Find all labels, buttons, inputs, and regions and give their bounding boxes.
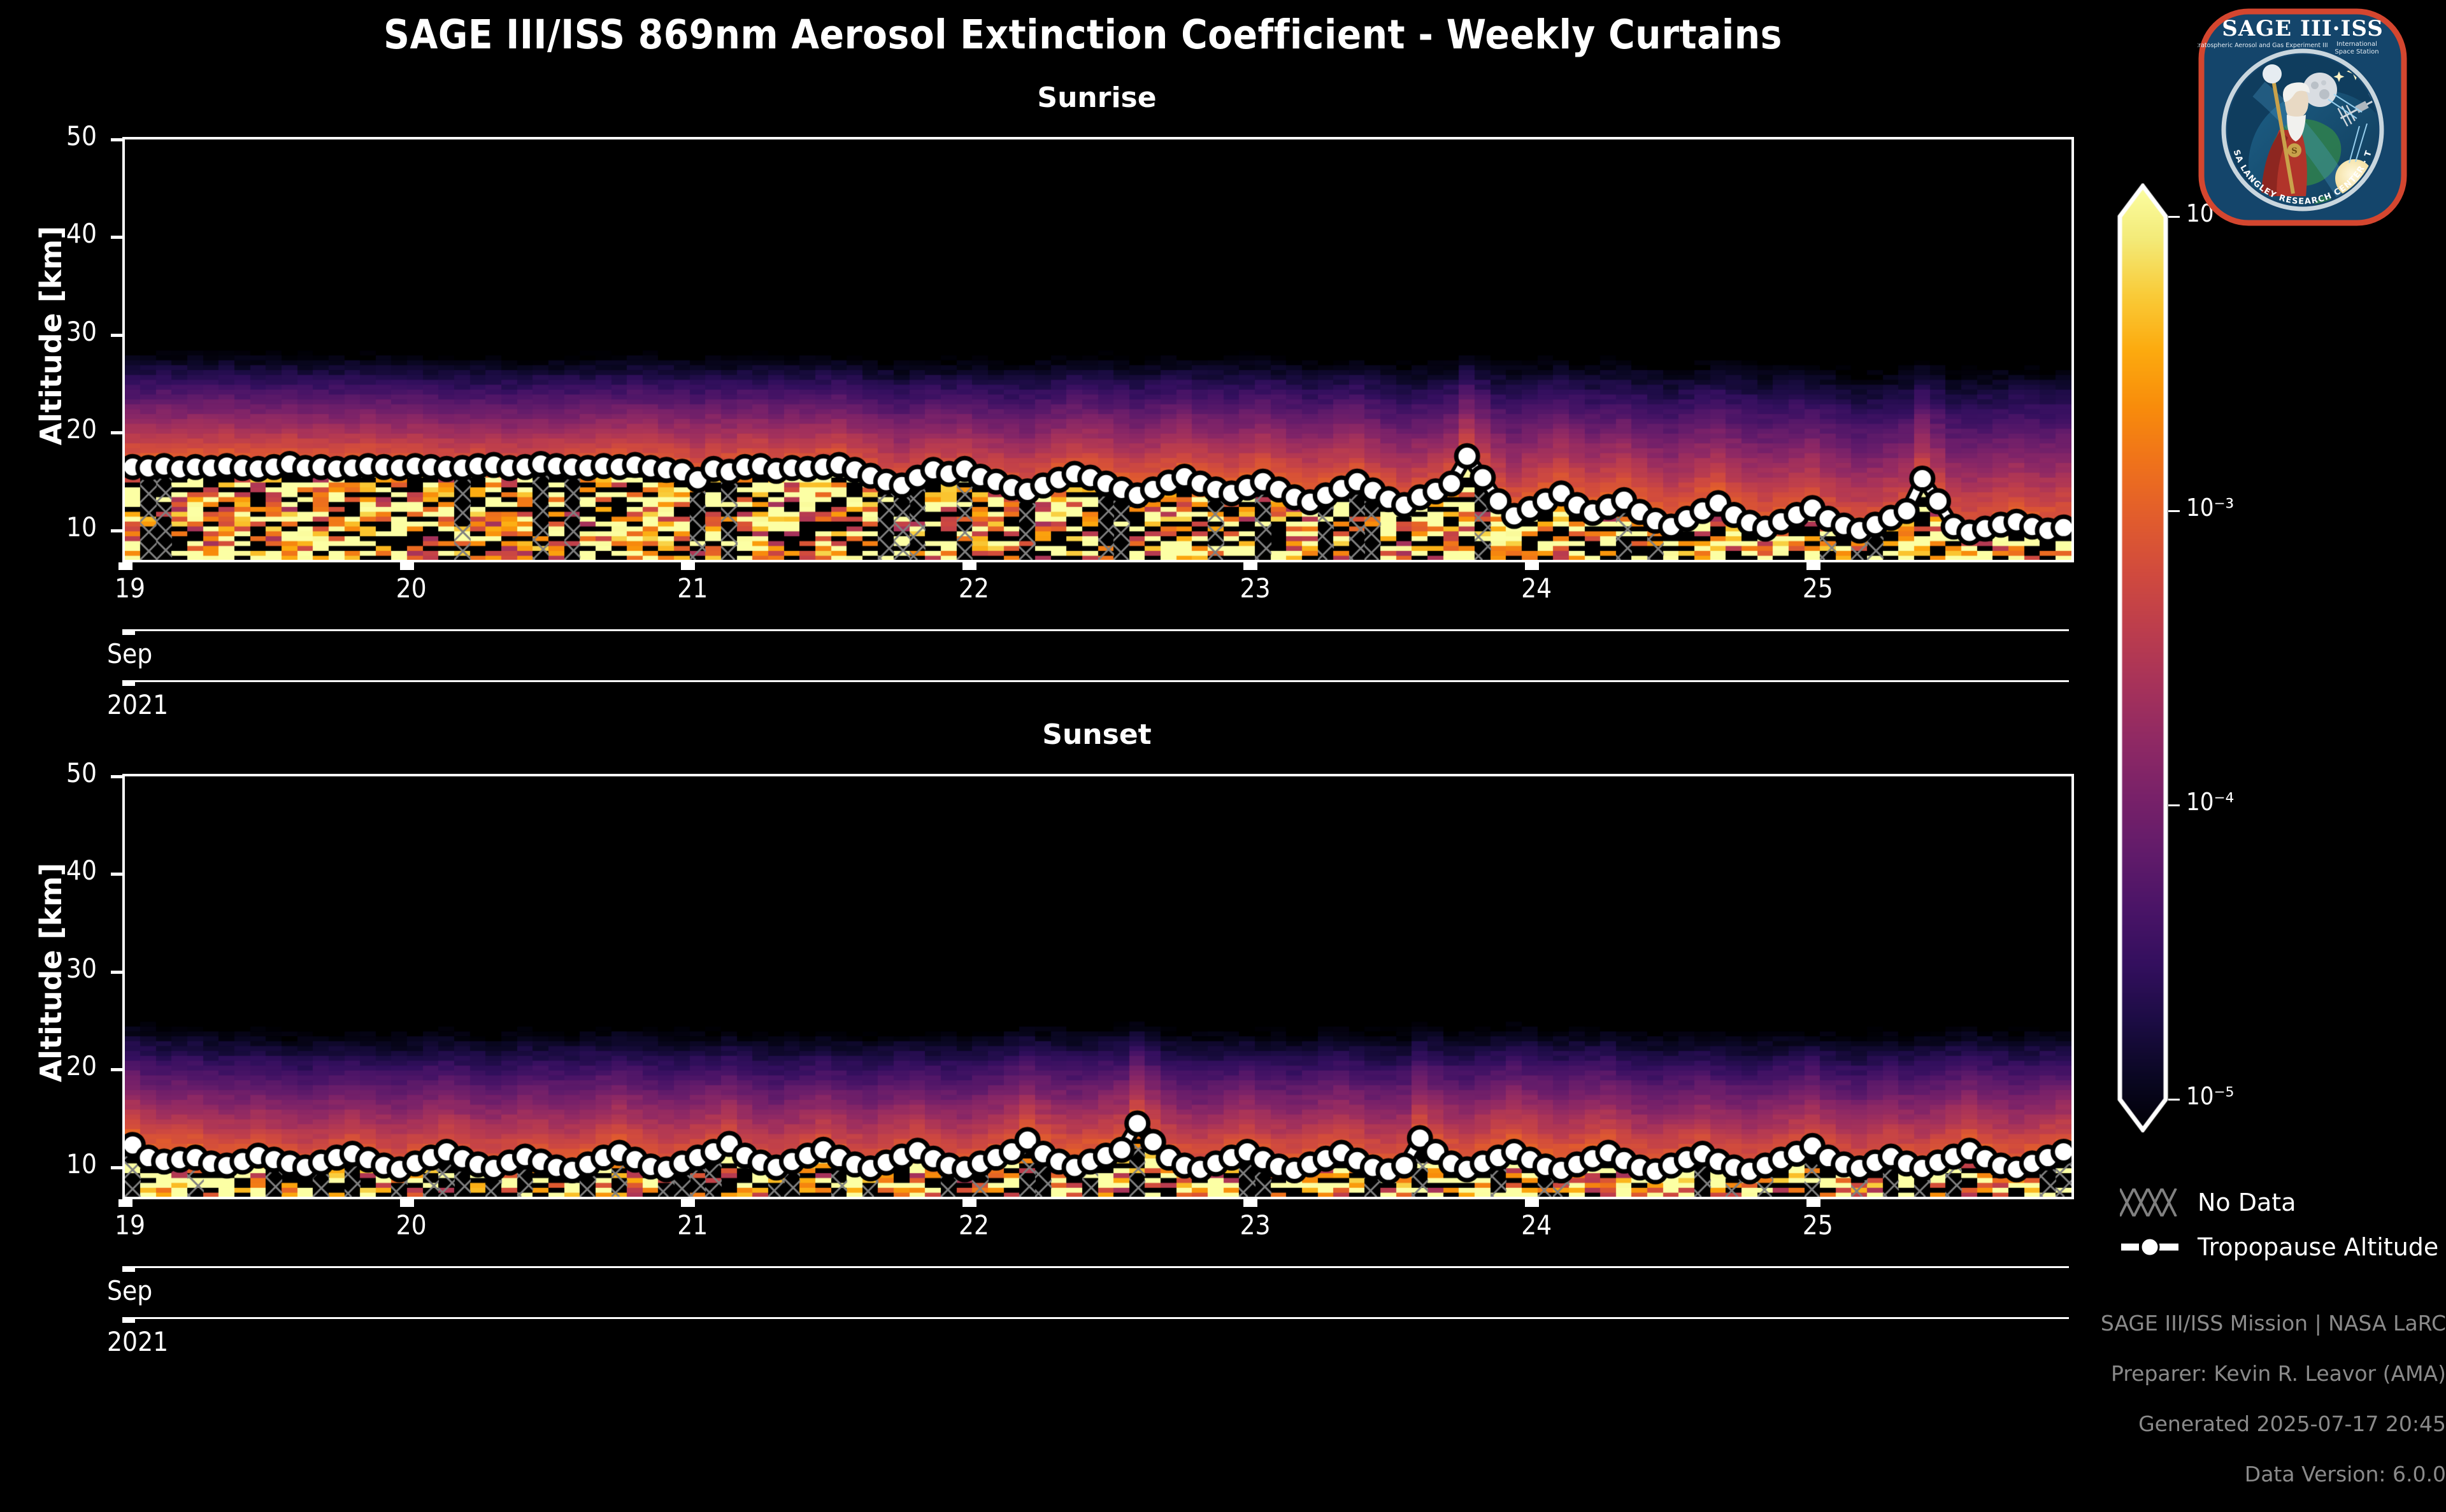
panel-title-sunset: Sunset: [122, 718, 2071, 751]
x-tick-label-23: 23: [1240, 573, 1341, 604]
month-label-sunset: Sep: [107, 1275, 152, 1306]
year-rule-sunset: [122, 1317, 2069, 1319]
month-tick-sunset: [122, 1266, 135, 1272]
y-tick-label-10: 10: [0, 511, 97, 543]
sage-iii-iss-logo: SAGE III·ISS Stratospheric Aerosol and G…: [2198, 5, 2408, 228]
x-tick-label-19: 19: [115, 1209, 217, 1241]
x-tick-mark: [1243, 562, 1257, 570]
colorbar-tick-mark: [2168, 510, 2180, 512]
x-tick-mark: [1243, 1199, 1257, 1207]
year-tick-sunset: [122, 1317, 135, 1323]
y-tick-mark: [111, 431, 124, 434]
legend-label-no-data: No Data: [2198, 1188, 2296, 1216]
legend-item-no-data[interactable]: No Data: [2120, 1188, 2438, 1216]
heatmap-sunset: [125, 776, 2071, 1197]
plot-area-sunset[interactable]: [122, 774, 2074, 1199]
y-tick-label-40: 40: [0, 218, 97, 249]
x-tick-label-20: 20: [396, 1209, 498, 1241]
colorbar-tick-label-2: 10⁻⁴: [2186, 788, 2234, 816]
year-tick-sunrise: [122, 680, 135, 686]
svg-text:Stratospheric Aerosol and Gas: Stratospheric Aerosol and Gas Experiment…: [2198, 42, 2328, 49]
y-tick-label-30: 30: [0, 316, 97, 347]
x-tick-mark: [1806, 562, 1820, 570]
colorbar-tick-mark: [2168, 804, 2180, 806]
y-tick-label-40: 40: [0, 855, 97, 886]
heatmap-sunrise: [125, 139, 2071, 560]
x-tick-mark: [118, 1199, 132, 1207]
month-rule-sunrise: [122, 629, 2069, 631]
x-tick-mark: [1525, 562, 1539, 570]
y-tick-label-50: 50: [0, 757, 97, 788]
x-tick-label-25: 25: [1803, 573, 1905, 604]
year-label-sunset: 2021: [107, 1326, 168, 1357]
x-tick-mark: [681, 562, 695, 570]
figure-canvas: SAGE III/ISS 869nm Aerosol Extinction Co…: [0, 0, 2446, 1376]
footer-credits: SAGE III/ISS Mission | NASA LaRC Prepare…: [1809, 1285, 2446, 1512]
colorbar-tick-label-3: 10⁻⁵: [2186, 1082, 2234, 1110]
panel-title-sunrise: Sunrise: [122, 82, 2071, 114]
svg-text:SAGE III·ISS: SAGE III·ISS: [2222, 16, 2384, 41]
svg-text:Space Station: Space Station: [2335, 48, 2378, 55]
no-data-hatch-icon: [2120, 1188, 2181, 1216]
x-tick-mark: [400, 562, 414, 570]
x-tick-mark: [962, 1199, 976, 1207]
y-tick-mark: [111, 529, 124, 532]
legend-item-tropopause[interactable]: Tropopause Altitude: [2120, 1233, 2438, 1261]
y-tick-label-30: 30: [0, 953, 97, 984]
y-tick-label-10: 10: [0, 1148, 97, 1180]
y-tick-mark: [111, 971, 124, 974]
colorbar-tick-label-1: 10⁻³: [2186, 494, 2234, 522]
y-tick-label-20: 20: [0, 1050, 97, 1081]
x-tick-mark: [1806, 1199, 1820, 1207]
x-tick-label-25: 25: [1803, 1209, 1905, 1241]
y-tick-mark: [111, 236, 124, 239]
x-tick-label-24: 24: [1521, 1209, 1623, 1241]
plot-area-sunrise[interactable]: [122, 137, 2074, 562]
y-tick-label-20: 20: [0, 413, 97, 445]
y-tick-mark: [111, 775, 124, 778]
colorbar-gradient: [2116, 183, 2170, 1132]
y-tick-mark: [111, 1166, 124, 1169]
y-tick-label-50: 50: [0, 120, 97, 152]
month-tick-sunrise: [122, 629, 135, 635]
footer-line-preparer: Preparer: Kevin R. Leavor (AMA): [1809, 1361, 2446, 1387]
x-tick-mark: [1525, 1199, 1539, 1207]
x-tick-label-21: 21: [677, 1209, 779, 1241]
colorbar[interactable]: 10⁻²10⁻³10⁻⁴10⁻⁵ Aerosol Extinction Coef…: [2116, 183, 2446, 1132]
legend: No Data Tropopause Altitude: [2120, 1188, 2438, 1261]
x-tick-label-22: 22: [959, 573, 1061, 604]
colorbar-tick-mark: [2168, 216, 2180, 218]
x-tick-mark: [681, 1199, 695, 1207]
x-tick-label-22: 22: [959, 1209, 1061, 1241]
y-tick-mark: [111, 1068, 124, 1071]
footer-line-mission: SAGE III/ISS Mission | NASA LaRC: [1809, 1311, 2446, 1336]
year-label-sunrise: 2021: [107, 689, 168, 720]
tropopause-line-marker-icon: [2120, 1233, 2181, 1261]
x-tick-label-19: 19: [115, 573, 217, 604]
y-tick-mark: [111, 138, 124, 141]
y-tick-mark: [111, 873, 124, 876]
svg-text:International: International: [2336, 41, 2377, 48]
y-tick-mark: [111, 334, 124, 337]
x-tick-mark: [118, 562, 132, 570]
year-rule-sunrise: [122, 680, 2069, 682]
footer-line-version: Data Version: 6.0.0: [1809, 1462, 2446, 1487]
legend-label-tropopause: Tropopause Altitude: [2198, 1233, 2438, 1261]
colorbar-tick-mark: [2168, 1099, 2180, 1101]
footer-line-generated: Generated 2025-07-17 20:45: [1809, 1411, 2446, 1437]
x-tick-label-21: 21: [677, 573, 779, 604]
x-tick-mark: [400, 1199, 414, 1207]
page-title: SAGE III/ISS 869nm Aerosol Extinction Co…: [0, 11, 2166, 58]
x-tick-mark: [962, 562, 976, 570]
svg-text:S: S: [2291, 146, 2297, 156]
x-tick-label-24: 24: [1521, 573, 1623, 604]
month-rule-sunset: [122, 1266, 2069, 1268]
x-tick-label-23: 23: [1240, 1209, 1341, 1241]
month-label-sunrise: Sep: [107, 638, 152, 669]
x-tick-label-20: 20: [396, 573, 498, 604]
